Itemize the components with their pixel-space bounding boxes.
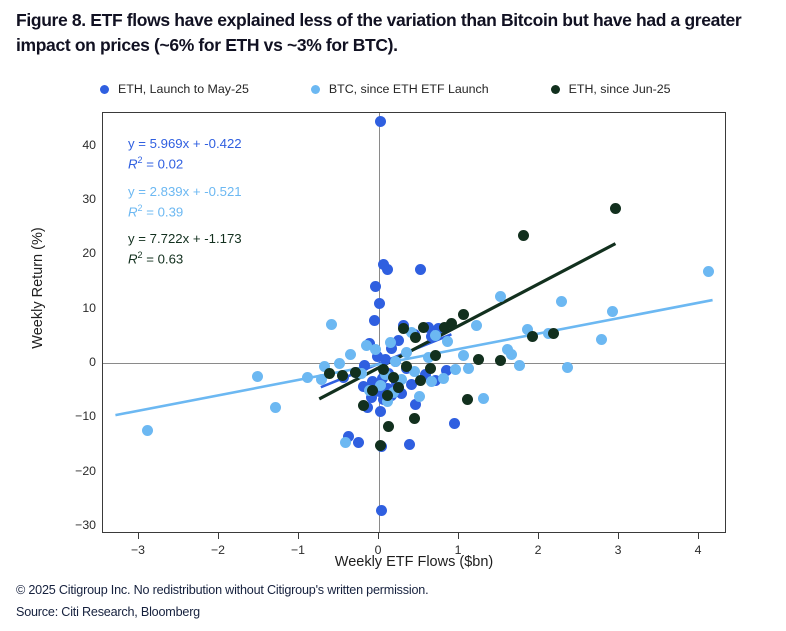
data-point <box>518 230 529 241</box>
data-point <box>374 298 385 309</box>
data-point <box>506 349 517 360</box>
data-point <box>390 356 401 367</box>
data-point <box>270 402 281 413</box>
y-tick-label: 20 <box>82 246 96 260</box>
data-point <box>430 330 441 341</box>
legend-item-eth-jun25[interactable]: ETH, since Jun-25 <box>551 82 671 96</box>
data-point <box>425 363 436 374</box>
data-point <box>495 355 506 366</box>
legend-label-eth-launch: ETH, Launch to May-25 <box>118 82 249 96</box>
x-tick-mark <box>378 533 379 539</box>
data-point <box>562 362 573 373</box>
r-squared-line: R2 = 0.02 <box>128 154 242 174</box>
data-point <box>375 116 386 127</box>
data-point <box>415 264 426 275</box>
data-point <box>438 373 449 384</box>
data-point <box>326 319 337 330</box>
x-tick-mark <box>698 533 699 539</box>
footer-source: Source: Citi Research, Bloomberg <box>16 602 768 624</box>
r-squared-line: R2 = 0.39 <box>128 202 242 222</box>
data-point <box>367 385 378 396</box>
data-point <box>302 372 313 383</box>
y-axis-title: Weekly Return (%) <box>30 158 46 418</box>
data-point <box>340 437 351 448</box>
x-tick-mark <box>538 533 539 539</box>
data-point <box>430 350 441 361</box>
data-point <box>375 440 386 451</box>
data-point <box>398 323 409 334</box>
data-point <box>548 328 559 339</box>
equation-line: y = 5.969x + -0.422 <box>128 134 242 154</box>
data-point <box>404 439 415 450</box>
y-tick-label: −20 <box>75 464 96 478</box>
data-point <box>462 394 473 405</box>
data-point <box>382 390 393 401</box>
x-axis-title: Weekly ETF Flows ($bn) <box>102 554 726 570</box>
data-point <box>596 334 607 345</box>
y-tick-label: −10 <box>75 409 96 423</box>
legend-marker-btc-icon <box>311 85 320 94</box>
data-point <box>458 350 469 361</box>
legend-label-btc: BTC, since ETH ETF Launch <box>329 82 489 96</box>
data-point <box>345 349 356 360</box>
data-point <box>415 375 426 386</box>
data-point <box>478 393 489 404</box>
data-point <box>385 337 396 348</box>
x-tick-mark <box>218 533 219 539</box>
data-point <box>414 391 425 402</box>
equation-block-0: y = 5.969x + -0.422R2 = 0.02 <box>128 134 242 175</box>
y-tick-label: 0 <box>89 355 96 369</box>
equation-line: y = 2.839x + -0.521 <box>128 182 242 202</box>
data-point <box>376 505 387 516</box>
data-point <box>409 413 420 424</box>
data-point <box>388 372 399 383</box>
legend-marker-eth-jun25-icon <box>551 85 560 94</box>
x-tick-mark <box>458 533 459 539</box>
data-point <box>449 418 460 429</box>
x-tick-mark <box>618 533 619 539</box>
y-axis-tick-labels: −30−20−10010203040 <box>56 112 96 533</box>
data-point <box>401 347 412 358</box>
data-point <box>527 331 538 342</box>
footer-copyright: © 2025 Citigroup Inc. No redistribution … <box>16 580 768 602</box>
footer: © 2025 Citigroup Inc. No redistribution … <box>16 580 768 623</box>
r-squared-line: R2 = 0.63 <box>128 249 242 269</box>
data-point <box>514 360 525 371</box>
y-tick-label: 40 <box>82 138 96 152</box>
regression-equations: y = 5.969x + -0.422R2 = 0.02y = 2.839x +… <box>128 134 242 270</box>
data-point <box>353 437 364 448</box>
data-point <box>334 358 345 369</box>
chart-legend: ETH, Launch to May-25 BTC, since ETH ETF… <box>100 78 760 100</box>
data-point <box>607 306 618 317</box>
equation-line: y = 7.722x + -1.173 <box>128 229 242 249</box>
data-point <box>393 382 404 393</box>
data-point <box>610 203 621 214</box>
legend-item-eth-launch[interactable]: ETH, Launch to May-25 <box>100 82 249 96</box>
data-point <box>495 291 506 302</box>
equation-block-2: y = 7.722x + -1.173R2 = 0.63 <box>128 229 242 270</box>
x-tick-mark <box>138 533 139 539</box>
data-point <box>142 425 153 436</box>
legend-label-eth-jun25: ETH, since Jun-25 <box>569 82 671 96</box>
x-tick-mark <box>298 533 299 539</box>
data-point <box>473 354 484 365</box>
data-point <box>350 367 361 378</box>
data-point <box>358 400 369 411</box>
data-point <box>252 371 263 382</box>
legend-marker-eth-launch-icon <box>100 85 109 94</box>
legend-item-btc[interactable]: BTC, since ETH ETF Launch <box>311 82 489 96</box>
y-tick-label: 30 <box>82 192 96 206</box>
equation-block-1: y = 2.839x + -0.521R2 = 0.39 <box>128 182 242 223</box>
data-point <box>378 259 389 270</box>
data-point <box>369 315 380 326</box>
page-title: Figure 8. ETF flows have explained less … <box>16 8 768 58</box>
y-tick-label: 10 <box>82 301 96 315</box>
data-point <box>401 361 412 372</box>
data-point <box>556 296 567 307</box>
y-tick-label: −30 <box>75 518 96 532</box>
